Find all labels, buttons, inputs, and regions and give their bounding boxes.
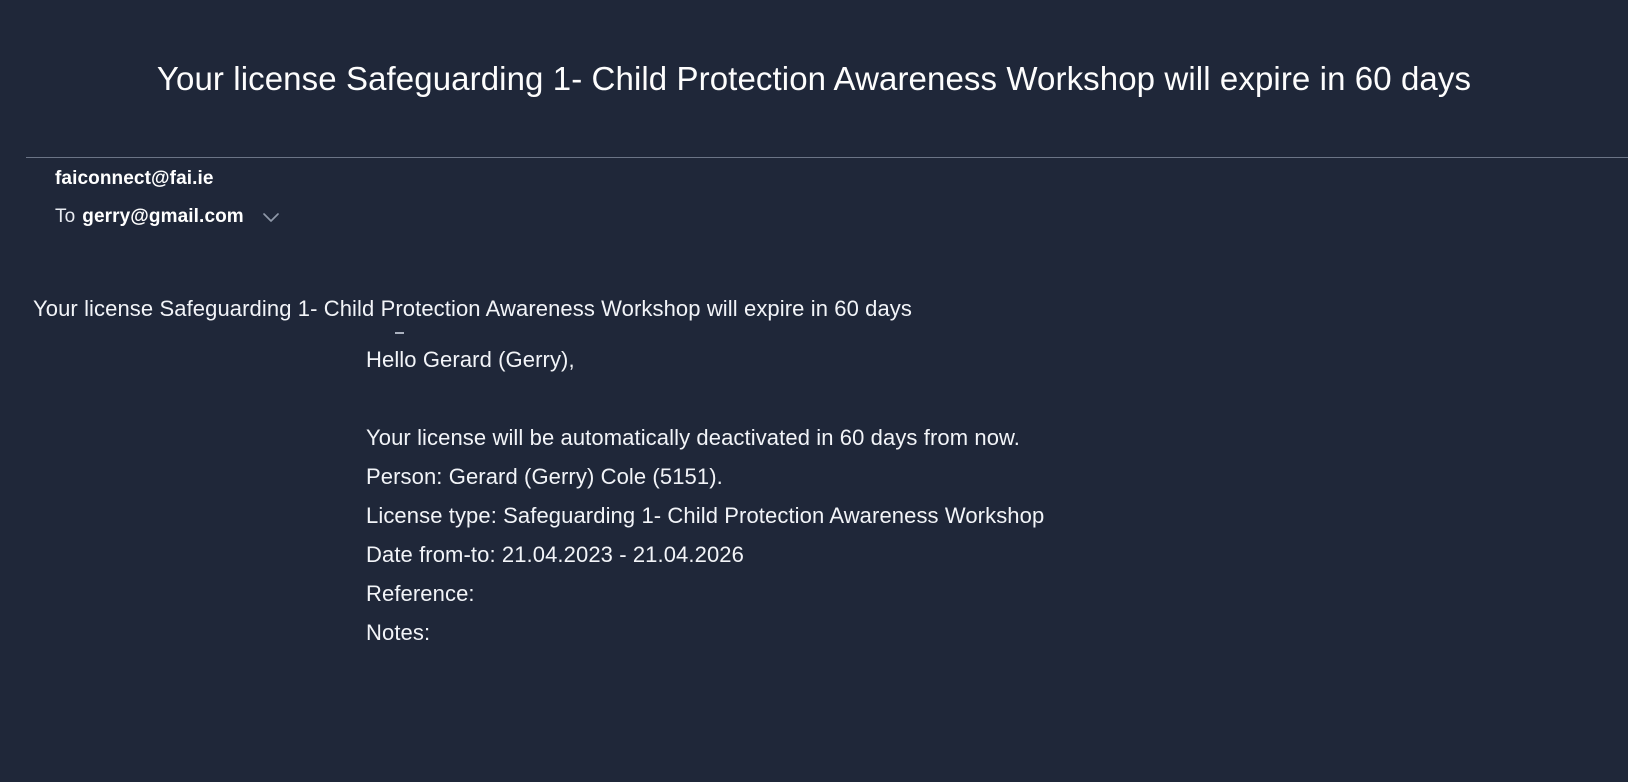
recipient-label: To xyxy=(55,202,75,232)
header-divider xyxy=(26,157,1628,158)
text-artifact-dash xyxy=(395,332,404,334)
message-body: Your license Safeguarding 1- Child Prote… xyxy=(0,258,1628,782)
body-subject-line: Your license Safeguarding 1- Child Prote… xyxy=(33,294,912,324)
body-line-reference: Reference: xyxy=(366,574,1466,613)
body-line-person: Person: Gerard (Gerry) Cole (5151). xyxy=(366,457,1466,496)
body-line-license-type: License type: Safeguarding 1- Child Prot… xyxy=(366,496,1466,535)
body-content: Hello Gerard (Gerry), Your license will … xyxy=(366,340,1466,652)
page-title: Your license Safeguarding 1- Child Prote… xyxy=(157,58,1471,99)
body-greeting: Hello Gerard (Gerry), xyxy=(366,340,1466,379)
sender-address[interactable]: faiconnect@fai.ie xyxy=(55,164,755,194)
chevron-down-icon[interactable] xyxy=(258,204,284,230)
subject-header: Your license Safeguarding 1- Child Prote… xyxy=(0,0,1628,157)
body-line-notes: Notes: xyxy=(366,613,1466,652)
recipient-row: To gerry@gmail.com xyxy=(55,202,755,232)
body-line-date-range: Date from-to: 21.04.2023 - 21.04.2026 xyxy=(366,535,1466,574)
body-blank-line xyxy=(366,379,1466,418)
email-message-view: { "email": { "subject": "Your license Sa… xyxy=(0,0,1628,782)
sender-block: faiconnect@fai.ie To gerry@gmail.com xyxy=(55,164,755,232)
recipient-address[interactable]: gerry@gmail.com xyxy=(82,202,244,232)
body-line-deactivation: Your license will be automatically deact… xyxy=(366,418,1466,457)
